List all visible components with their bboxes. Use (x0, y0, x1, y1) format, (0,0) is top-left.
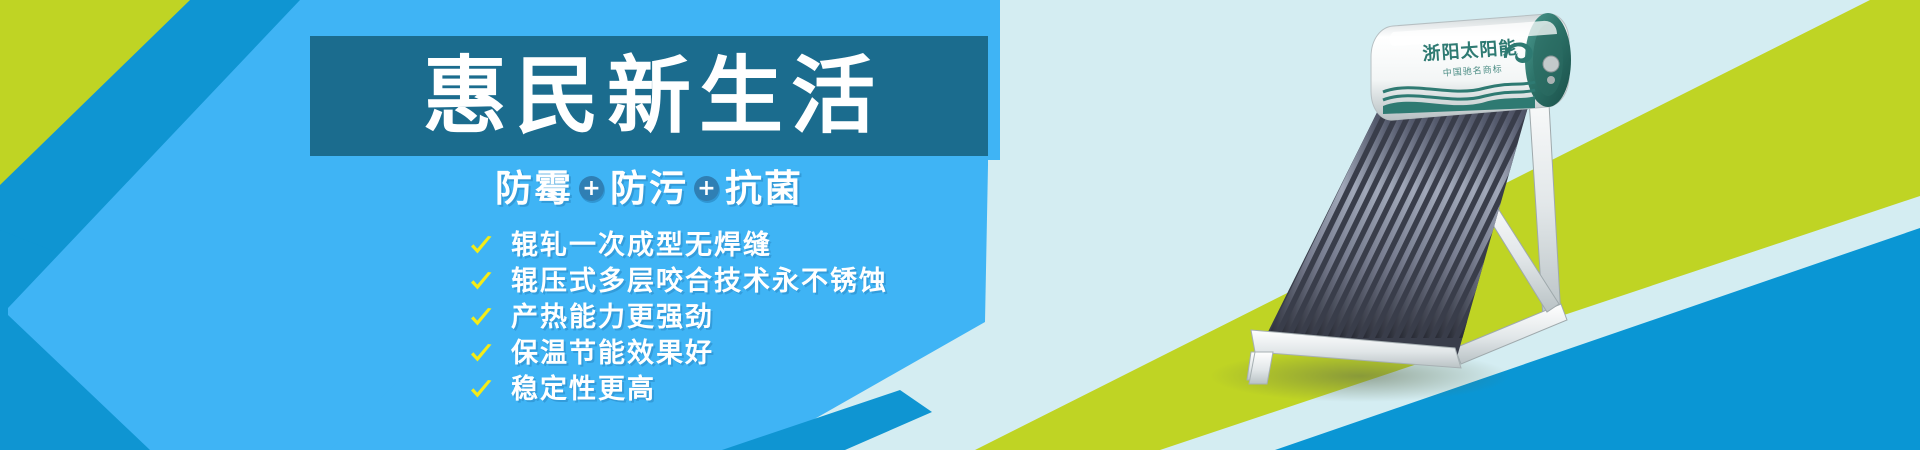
title-band: 惠民新生活 (310, 36, 988, 156)
feature-item: 稳定性更高 (468, 376, 888, 403)
feature-item: 辊压式多层咬合技术永不锈蚀 (468, 268, 888, 295)
feature-label: 稳定性更高 (511, 376, 656, 403)
feature-item: 辊轧一次成型无焊缝 (468, 232, 888, 259)
feature-label: 保温节能效果好 (511, 340, 714, 367)
subtitle-row: 防霉 + 防污 + 抗菌 (310, 170, 988, 207)
solar-water-heater-illustration: 浙阳太阳能 中国驰名商标 (1155, 8, 1595, 438)
feature-label: 辊压式多层咬合技术永不锈蚀 (511, 268, 888, 295)
tank-port (1543, 56, 1559, 72)
check-icon (468, 341, 494, 367)
solar-water-heater-image: 浙阳太阳能 中国驰名商标 (1155, 8, 1595, 438)
feature-item: 产热能力更强劲 (468, 304, 888, 331)
feature-list: 辊轧一次成型无焊缝 辊压式多层咬合技术永不锈蚀 产热能力更强劲 保温节能效果好 (468, 232, 888, 403)
subtitle-word-3: 抗菌 (725, 170, 803, 207)
plus-icon-1: + (579, 176, 604, 201)
feature-item: 保温节能效果好 (468, 340, 888, 367)
feature-label: 产热能力更强劲 (511, 304, 714, 331)
subtitle-word-2: 防污 (610, 170, 688, 207)
text-column: 惠民新生活 防霉 + 防污 + 抗菌 辊轧一次成型无焊缝 辊压式多层咬合技术永不… (0, 0, 1000, 450)
check-icon (468, 269, 494, 295)
plus-icon-2: + (694, 176, 719, 201)
water-storage-tank: 浙阳太阳能 中国驰名商标 (1371, 13, 1571, 120)
subtitle-word-1: 防霉 (495, 170, 573, 207)
check-icon (468, 305, 494, 331)
promotional-banner: 惠民新生活 防霉 + 防污 + 抗菌 辊轧一次成型无焊缝 辊压式多层咬合技术永不… (0, 0, 1920, 450)
page-title: 惠民新生活 (310, 36, 988, 156)
check-icon (468, 233, 494, 259)
check-icon (468, 377, 494, 403)
feature-label: 辊轧一次成型无焊缝 (511, 232, 772, 259)
